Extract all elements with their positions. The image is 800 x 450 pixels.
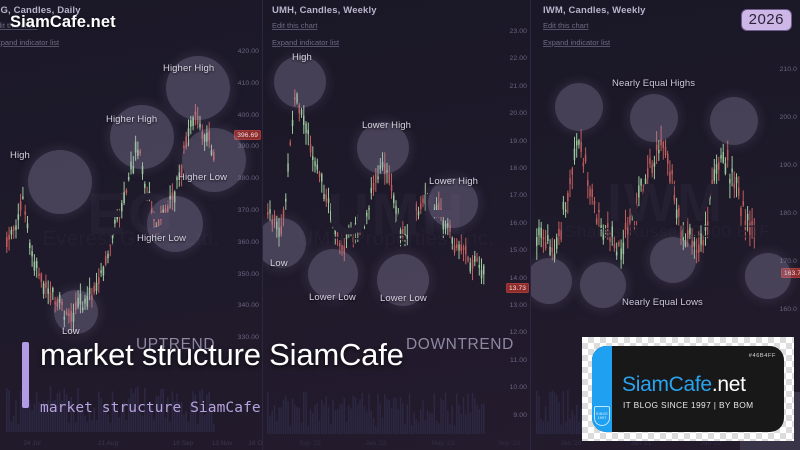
date-tick: Jan '23 <box>366 440 387 447</box>
date-tick: 13 Nov <box>212 440 233 447</box>
chart-panel-umh[interactable]: UMH UMH Properties, Inc. UMH, Candles, W… <box>262 0 530 450</box>
price-tick: 12.00 <box>509 329 527 336</box>
accent-bar <box>22 342 29 408</box>
brand-part-1: SiamCafe <box>622 373 712 396</box>
price-tick: 20.00 <box>509 110 527 117</box>
structure-marker-label: High <box>292 52 312 63</box>
structure-marker-label: Nearly Equal Highs <box>612 78 695 89</box>
price-tick: 210.0 <box>779 66 797 73</box>
structure-marker-label: Lower High <box>429 176 478 187</box>
structure-marker-label: Lower Low <box>380 293 427 304</box>
price-tick: 19.00 <box>509 138 527 145</box>
price-tick: 13.00 <box>509 302 527 309</box>
expand-indicator-list-link[interactable]: Expand indicator list <box>543 38 610 47</box>
date-tick: Jan '20 <box>561 440 582 447</box>
siamcafe-watermark-top: SiamCafe.net <box>10 13 116 32</box>
date-tick: Sep '23 <box>498 440 520 447</box>
price-tick: 15.00 <box>509 247 527 254</box>
price-tick: 9.00 <box>513 412 527 419</box>
price-tick: 370.00 <box>238 207 259 214</box>
structure-marker-label: Nearly Equal Lows <box>622 297 703 308</box>
panel-title: UMH, Candles, Weekly <box>272 5 377 16</box>
price-tick: 17.00 <box>509 192 527 199</box>
date-axis[interactable]: 24 Jul21 Aug18 Sep16 Oct13 Nov <box>0 434 262 450</box>
price-tick: 11.00 <box>510 357 527 364</box>
date-tick: 18 Sep <box>173 440 194 447</box>
structure-marker-circle <box>28 150 92 214</box>
price-tick: 360.00 <box>238 239 259 246</box>
structure-marker-circle <box>745 253 791 299</box>
price-tick: 180.0 <box>779 210 797 217</box>
logo-side-stripe: SINCE 1997 <box>592 346 612 432</box>
brand-part-2: .net <box>712 373 746 396</box>
structure-marker-circle <box>650 237 696 283</box>
date-axis[interactable]: Sep '22Jan '23May '23Sep '23 <box>263 434 530 450</box>
logo-brand-text: SiamCafe.net <box>622 373 746 397</box>
price-tick: 10.00 <box>509 384 527 391</box>
structure-marker-label: Low <box>270 258 288 269</box>
date-tick: May '23 <box>432 440 455 447</box>
price-tick: 400.00 <box>238 112 259 119</box>
price-tick: 420.00 <box>238 48 259 55</box>
panel-title: IWM, Candles, Weekly <box>543 5 646 16</box>
structure-marker-label: High <box>10 150 30 161</box>
last-price-badge: 13.73 <box>506 283 529 293</box>
date-tick: Jan '22 <box>701 440 722 447</box>
year-badge: 2026 <box>741 9 792 31</box>
structure-marker-label: Lower High <box>362 120 411 131</box>
price-axis[interactable]: 420.00410.00400.00390.00380.00370.00360.… <box>218 0 262 450</box>
chart-panel-eg[interactable]: EG Everest Group Ltd. EG, Candles, Daily… <box>0 0 262 450</box>
price-tick: 23.00 <box>509 28 527 35</box>
price-axis[interactable]: 23.0022.0021.0020.0019.0018.0017.0016.00… <box>486 0 530 450</box>
structure-marker-label: Lower Low <box>309 292 356 303</box>
date-tick: Sep '22 <box>299 440 321 447</box>
price-tick: 22.00 <box>509 55 527 62</box>
price-tick: 410.00 <box>238 80 259 87</box>
price-tick: 200.0 <box>779 114 797 121</box>
structure-marker-label: Higher High <box>106 114 157 125</box>
expand-indicator-list-link[interactable]: Expand indicator list <box>0 38 59 47</box>
price-tick: 14.00 <box>509 275 527 282</box>
structure-marker-circle <box>630 94 678 142</box>
structure-marker-circle <box>580 262 626 308</box>
since-1997-shield-icon: SINCE 1997 <box>594 406 610 426</box>
structure-marker-circle <box>274 56 326 108</box>
siamcafe-logo-card: SINCE 1997 #46B4FF SiamCafe.net IT BLOG … <box>582 337 794 441</box>
price-tick: 190.0 <box>779 162 797 169</box>
edit-this-chart-link[interactable]: Edit this chart <box>272 21 317 30</box>
date-tick: 24 Jul <box>23 440 40 447</box>
structure-marker-label: Higher Low <box>178 172 227 183</box>
logo-tagline: IT BLOG SINCE 1997 | BY BOM <box>623 400 753 410</box>
price-tick: 21.00 <box>509 83 527 90</box>
price-tick: 350.00 <box>238 271 259 278</box>
logo-card-inner: SINCE 1997 #46B4FF SiamCafe.net IT BLOG … <box>592 346 784 432</box>
shield-line-2: 1997 <box>595 416 609 420</box>
price-tick: 160.0 <box>779 306 797 313</box>
price-tick: 340.00 <box>238 302 259 309</box>
date-tick: 21 Aug <box>98 440 118 447</box>
date-tick: Jan '21 <box>631 440 652 447</box>
price-tick: 18.00 <box>509 165 527 172</box>
structure-marker-label: Higher High <box>163 63 214 74</box>
banner-title: market structure SiamCafe <box>40 337 404 373</box>
structure-marker-circle <box>710 97 758 145</box>
structure-marker-label: Low <box>62 326 80 337</box>
price-tick: 16.00 <box>509 220 527 227</box>
expand-indicator-list-link[interactable]: Expand indicator list <box>272 38 339 47</box>
hex-color-label: #46B4FF <box>749 353 776 359</box>
logo-card-body: #46B4FF SiamCafe.net IT BLOG SINCE 1997 … <box>612 346 784 432</box>
date-tick: 16 Oct <box>248 440 262 447</box>
edit-this-chart-link[interactable]: Edit this chart <box>543 21 588 30</box>
banner-subtitle: market structure SiamCafe <box>40 400 261 416</box>
structure-marker-label: Higher Low <box>137 233 186 244</box>
structure-marker-circle <box>555 83 603 131</box>
